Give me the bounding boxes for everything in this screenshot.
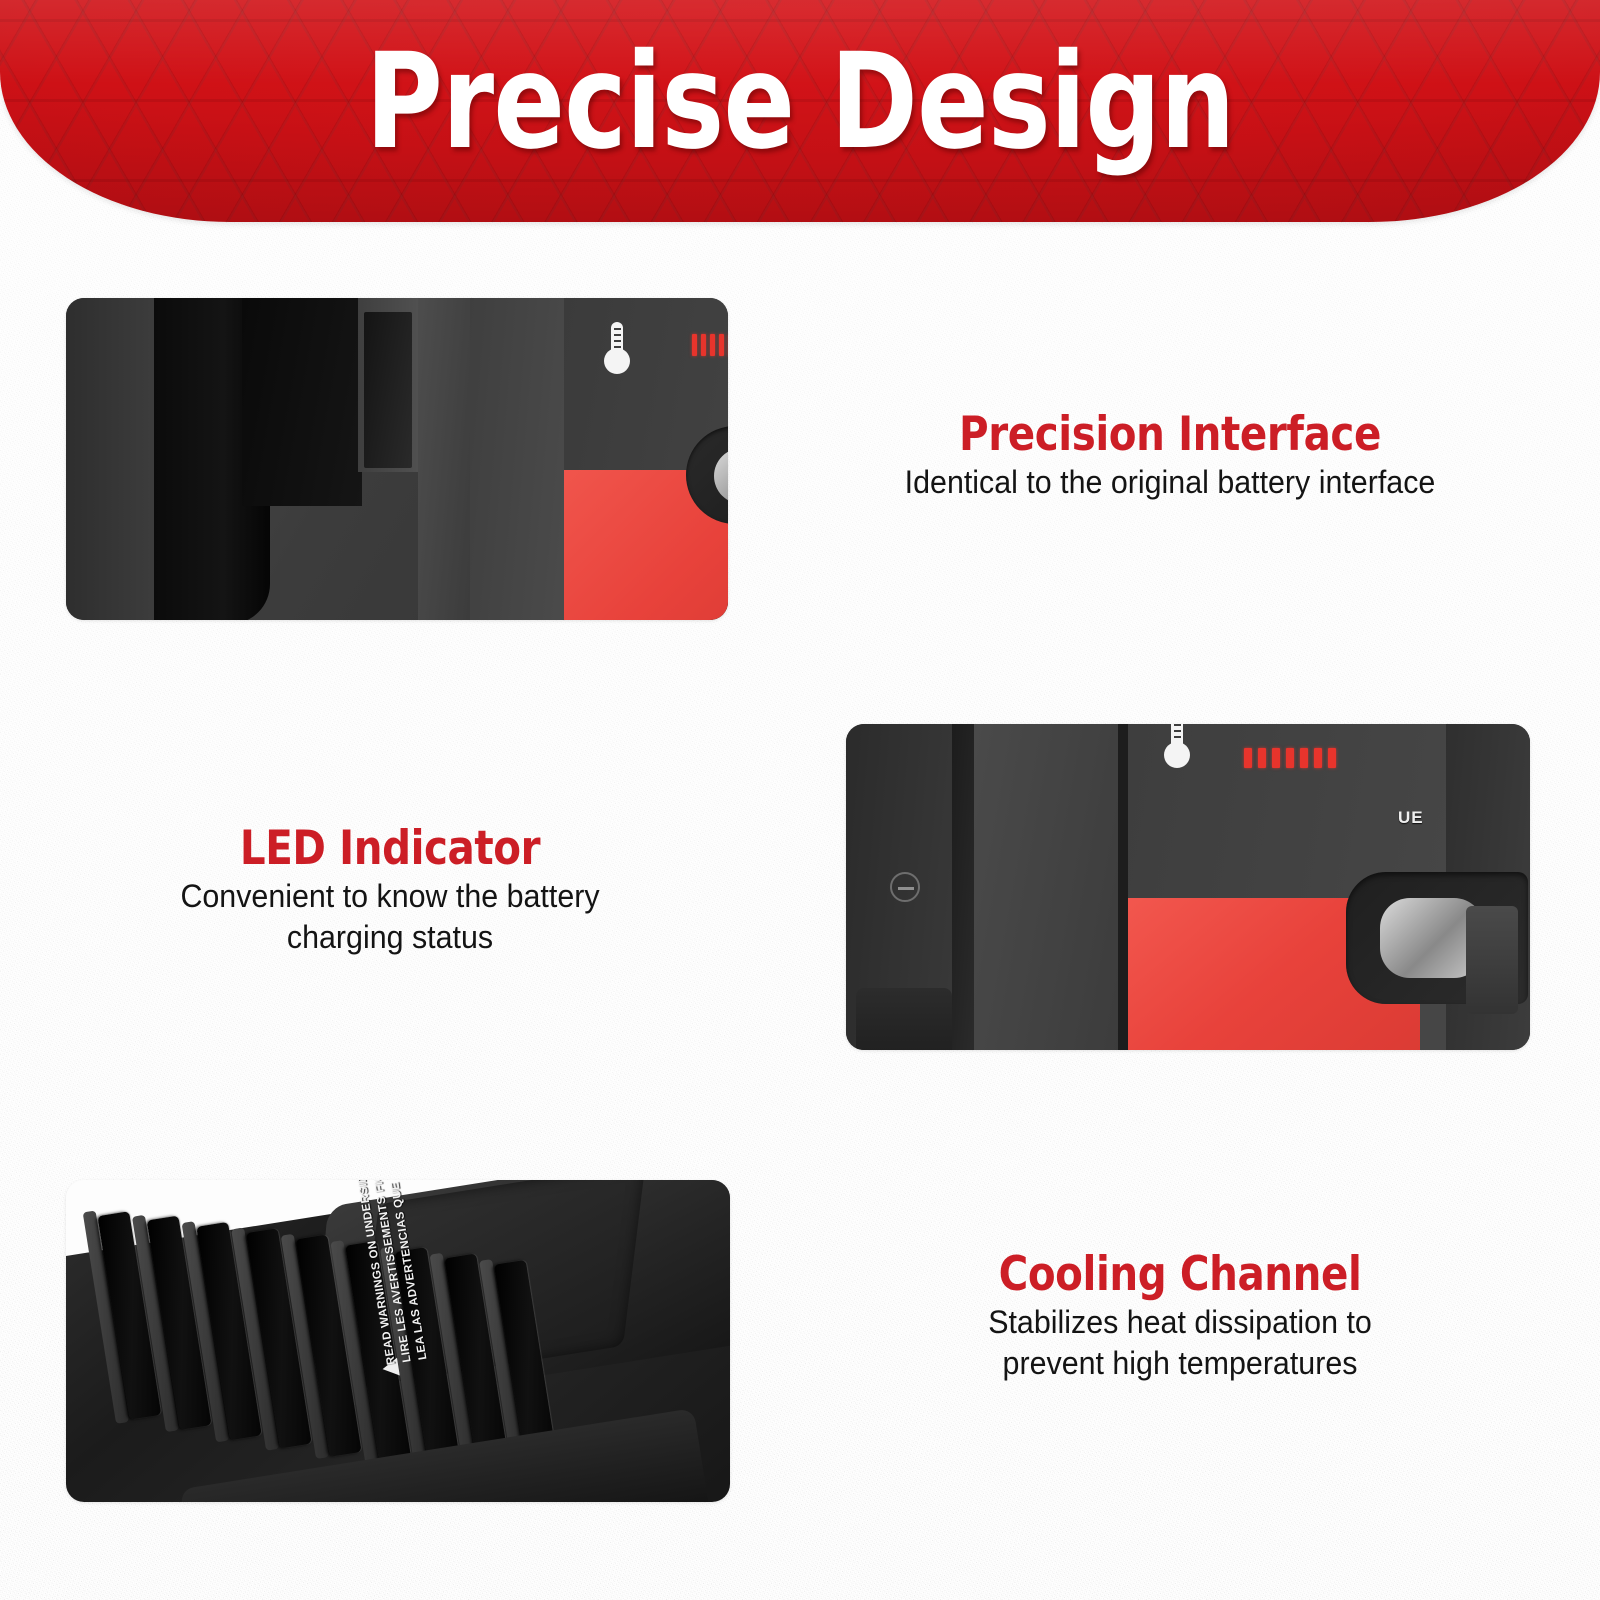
- charger-faceplate: [564, 298, 728, 620]
- thermometer-tick: [614, 346, 621, 348]
- led-bar: [1244, 748, 1252, 768]
- caption-led-indicator: LED Indicator Convenient to know the bat…: [120, 822, 660, 958]
- charger-slot-shadow: [242, 298, 362, 506]
- led-bar: [710, 334, 715, 356]
- minus-glyph-icon: [890, 872, 920, 902]
- page-title: Precise Design: [160, 36, 1440, 168]
- led-bar: [1314, 748, 1322, 768]
- thermometer-tick: [1174, 736, 1181, 738]
- feature-title: Precision Interface: [912, 408, 1428, 462]
- thermometer-bulb: [604, 348, 630, 374]
- thermometer-icon: [604, 322, 630, 376]
- feature-title: Cooling Channel: [939, 1248, 1421, 1302]
- charger-latch-tab: [1466, 906, 1518, 1014]
- led-bar: [692, 334, 697, 356]
- led-bar: [1272, 748, 1280, 768]
- thermometer-bulb: [1164, 742, 1190, 768]
- thermometer-icon: [1164, 724, 1190, 770]
- thermometer-tick: [614, 340, 621, 342]
- charger-guide-channel: [364, 312, 412, 468]
- thermometer-tick: [1174, 730, 1181, 732]
- led-bar: [1258, 748, 1266, 768]
- feature-subtitle-line2: prevent high temperatures: [914, 1343, 1446, 1384]
- feature-subtitle-line2: charging status: [134, 917, 647, 958]
- feature-subtitle: Identical to the original battery interf…: [885, 462, 1455, 503]
- led-bar-indicator-row: [692, 334, 728, 356]
- charger-left-wall: [66, 298, 158, 620]
- molding-mark-label: UE: [1398, 808, 1424, 828]
- caption-precision-interface: Precision Interface Identical to the ori…: [870, 408, 1470, 503]
- photo-precision-interface: [66, 298, 728, 620]
- infographic-page: Precise Design: [0, 0, 1600, 1600]
- led-bar: [719, 334, 724, 356]
- led-bar: [1328, 748, 1336, 768]
- led-bar: [1286, 748, 1294, 768]
- feature-subtitle-line1: Stabilizes heat dissipation to: [914, 1302, 1446, 1343]
- charger-right-wall: [470, 298, 568, 620]
- feature-title: LED Indicator: [158, 822, 622, 876]
- led-bar: [701, 334, 706, 356]
- led-bar: [1300, 748, 1308, 768]
- photo-cooling-channel: READ WARNINGS ON UNDERSIDE OF CHARGER. L…: [66, 1180, 730, 1502]
- led-indicator-lens: [714, 448, 728, 504]
- thermometer-tick: [614, 328, 621, 330]
- photo-led-indicator: UE: [846, 724, 1530, 1050]
- feature-subtitle-line1: Convenient to know the battery: [134, 876, 647, 917]
- charger-middle-wall: [418, 298, 478, 620]
- thermometer-tick: [614, 334, 621, 336]
- caption-cooling-channel: Cooling Channel Stabilizes heat dissipat…: [900, 1248, 1460, 1384]
- thermometer-tick: [1174, 724, 1181, 726]
- led-bar-indicator-row: [1244, 748, 1336, 768]
- charger-lower-block: [856, 988, 952, 1050]
- charger-center-wall: [974, 724, 1138, 1050]
- charger-seam-line: [1118, 724, 1128, 1050]
